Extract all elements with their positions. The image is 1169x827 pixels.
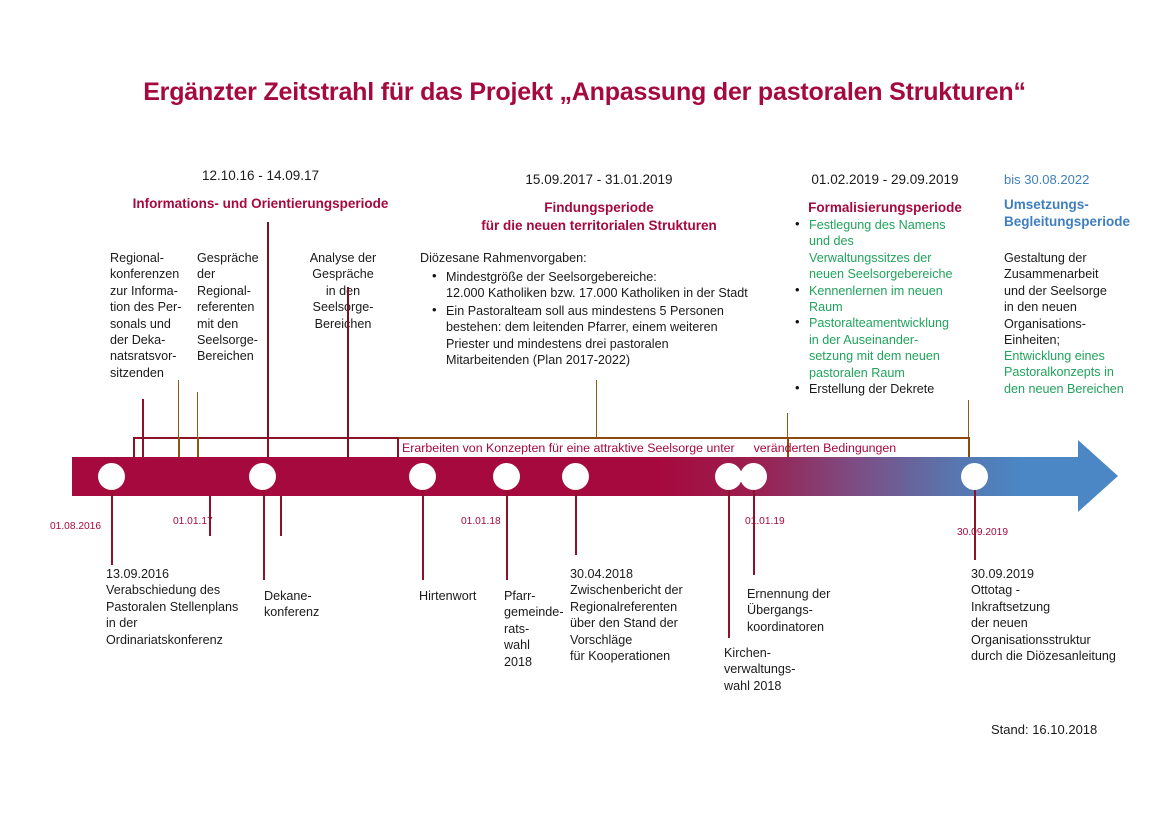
banner-text-part2: veränderten Bedingungen [754,441,897,455]
timeline-milestone-dot[interactable] [961,463,988,490]
period-header-informations: 12.10.16 - 14.09.17 Informations- und Or… [108,168,413,212]
tick-date-label: 01.01.18 [461,516,501,527]
period-date-umsetzung-text: bis 30.08.2022 [1004,172,1089,187]
event-label-hirtenwort: Hirtenwort [419,588,499,604]
period1-column-1: Regional- konferenzen zur Informa- tion … [110,250,190,381]
event-connector [111,490,113,565]
banner-text-part1: Erarbeiten von Konzepten für eine attrak… [402,441,735,455]
tick-date-label: 01.01.17 [173,516,213,527]
stand-footer: Stand: 16.10.2018 [991,722,1097,737]
list-item: Erstellung der Dekrete [793,381,985,397]
bracket-divider-mid [397,437,399,459]
period1-column-3: Analyse der Gespräche in den Seelsorge- … [297,250,389,332]
period-header-findungsperiode: 15.09.2017 - 31.01.2019 Findungsperiode … [424,172,774,234]
bracket-top-right [397,437,970,439]
period-subname-findungsperiode: für die neuen territorialen Strukturen [424,217,774,234]
period-name-findungsperiode: Findungsperiode [424,199,774,216]
event-text: Zwischenbericht der Regionalreferenten ü… [570,582,720,664]
timeline-milestone-dot[interactable] [562,463,589,490]
timeline-milestone-dot[interactable] [740,463,767,490]
event-date: 13.09.2016 [106,566,296,582]
bracket-tick-b [197,437,199,459]
event-label-zwischenbericht: 30.04.2018 Zwischenbericht der Regionalr… [570,566,720,664]
connector-line-up-6 [596,380,597,438]
period-date-informations: 12.10.16 - 14.09.17 [108,168,413,184]
umsetzung-body-green: Entwicklung eines Pastoralkonzepts in de… [1004,348,1159,397]
list-item: Ein Pastoralteam soll aus mindestens 5 P… [430,303,790,369]
event-text: Ottotag - Inkraftsetzung der neuen Organ… [971,582,1169,664]
event-label-ottotag: 30.09.2019 Ottotag - Inkraftsetzung der … [971,566,1169,664]
bracket-right-edge [968,437,970,459]
formalisierung-bullets: Festlegung des Namens und des Verwaltung… [793,217,985,397]
event-connector [974,490,976,560]
period-name-informations: Informations- und Orientierungsperiode [108,195,413,212]
timeline-arrowhead-icon [1078,440,1118,512]
tick-mark [280,496,282,536]
event-connector [422,490,424,580]
timeline-milestone-dot[interactable] [715,463,742,490]
bracket-left-edge [133,437,135,459]
timeline-milestone-dot[interactable] [493,463,520,490]
timeline-milestone-dot[interactable] [409,463,436,490]
period-date-findungsperiode: 15.09.2017 - 31.01.2019 [424,172,774,188]
period-header-formalisierung: 01.02.2019 - 29.09.2019 Formalisierungsp… [790,172,980,216]
list-item: Mindestgröße der Seelsorgebereiche: 12.0… [430,269,790,302]
page-title: Ergänzter Zeitstrahl für das Projekt „An… [0,78,1169,107]
bracket-tick-a [178,437,180,459]
list-item: Pastoralteamentwicklung in der Auseinand… [793,315,985,381]
event-label-pfarrgemeinderatswahl: Pfarr- gemeinde- rats- wahl 2018 [504,588,570,670]
event-connector [506,490,508,580]
event-connector [753,490,755,575]
event-label-kirchenverwaltungswahl: Kirchen- verwaltungs- wahl 2018 [724,645,834,694]
bracket-top-left [133,437,398,439]
event-label-dekanekonferenz: Dekane- konferenz [264,588,344,621]
connector-line-up-1 [142,399,144,457]
tick-date-label: 01.08.2016 [50,521,101,532]
banner-text: Erarbeiten von Konzepten für eine attrak… [402,441,967,455]
bracket-tick-c [267,437,269,459]
period-name-formalisierung: Formalisierungsperiode [790,199,980,216]
tick-date-label: 01.01.19 [745,516,785,527]
findungsperiode-intro: Diözesane Rahmenvorgaben: [420,250,780,266]
connector-line-up-4 [267,222,269,457]
connector-line-up-5 [347,287,349,457]
timeline-milestone-dot[interactable] [98,463,125,490]
tick-date-label: 30.09.2019 [957,527,1008,538]
event-date: 30.04.2018 [570,566,720,582]
period1-column-2: Gespräche der Regional- referenten mit d… [197,250,269,365]
event-connector [728,490,730,638]
list-item: Kennenlernen im neuen Raum [793,283,985,316]
period-date-formalisierung: 01.02.2019 - 29.09.2019 [790,172,980,188]
tick-mark [209,496,211,536]
event-label-ernennung: Ernennung der Übergangs- koordinatoren [747,586,897,635]
event-date: 30.09.2019 [971,566,1169,582]
umsetzung-body-black: Gestaltung der Zusammenarbeit und der Se… [1004,250,1154,348]
event-connector [575,490,577,555]
period-date-umsetzung: bis 30.08.2022 [1004,172,1154,187]
timeline-milestone-dot[interactable] [249,463,276,490]
findungsperiode-bullets: Mindestgröße der Seelsorgebereiche: 12.0… [430,269,790,368]
period-name-umsetzung: Umsetzungs- Begleitungsperiode [1004,196,1159,230]
list-item: Festlegung des Namens und des Verwaltung… [793,217,985,283]
